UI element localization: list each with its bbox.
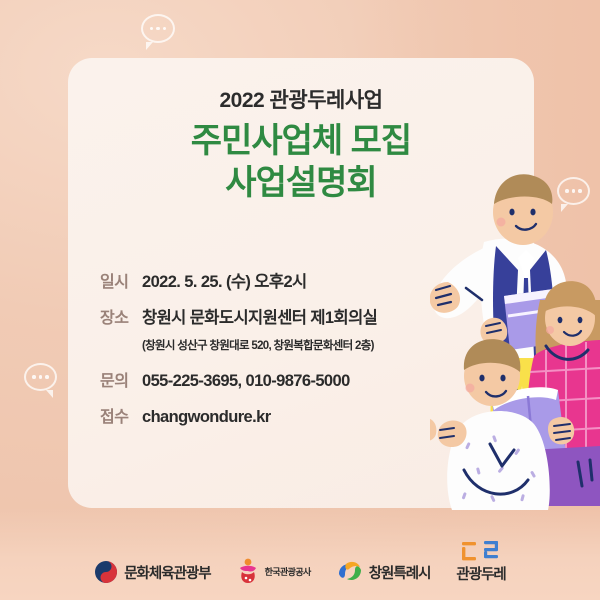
info-row-date: 일시 2022. 5. 25. (수) 오후2시 <box>100 268 440 292</box>
info-value-address-note: (창원시 성산구 창원대로 520, 창원복합문화센터 2층) <box>142 340 374 352</box>
logo-mcst: 문화체육관광부 <box>94 560 210 584</box>
taegeuk-icon <box>94 560 118 584</box>
info-label-date: 일시 <box>100 268 142 292</box>
people-illustration <box>430 150 600 520</box>
changwon-swirl-icon <box>337 560 363 584</box>
footer-logo-strip: 문화체육관광부 한국관광공사 창원특례시 <box>0 540 600 584</box>
info-row-venue: 장소 창원시 문화도시지원센터 제1회의실 <box>100 304 440 328</box>
info-value-registration: changwondure.kr <box>142 408 271 427</box>
info-row-registration: 접수 changwondure.kr <box>100 403 440 427</box>
logo-changwon: 창원특례시 <box>337 560 431 584</box>
poster-root: 2022 관광두레사업 주민사업체 모집 사업설명회 일시 2022. 5. 2… <box>0 0 600 600</box>
info-row-address-note: (창원시 성산구 창원대로 520, 창원복합문화센터 2층) <box>142 336 440 354</box>
logo-kto: 한국관광공사 <box>237 558 311 584</box>
info-value-date: 2022. 5. 25. (수) 오후2시 <box>142 268 307 292</box>
info-value-venue: 창원시 문화도시지원센터 제1회의실 <box>142 304 377 328</box>
info-row-contact: 문의 055-225-3695, 010-9876-5000 <box>100 367 440 391</box>
logo-changwon-label: 창원특례시 <box>369 562 431 583</box>
info-value-contact: 055-225-3695, 010-9876-5000 <box>142 372 350 391</box>
event-info-list: 일시 2022. 5. 25. (수) 오후2시 장소 창원시 문화도시지원센터… <box>100 268 440 439</box>
logo-dure-label: 관광두레 <box>456 563 505 584</box>
logo-kto-label: 한국관광공사 <box>265 565 311 578</box>
info-label-contact: 문의 <box>100 367 142 391</box>
kto-figure-icon <box>237 558 259 584</box>
poster-eyebrow: 2022 관광두레사업 <box>68 88 534 114</box>
dure-wordmark-icon <box>458 540 504 562</box>
info-label-registration: 접수 <box>100 403 142 427</box>
logo-dure: 관광두레 <box>456 540 505 584</box>
info-label-venue: 장소 <box>100 304 142 328</box>
logo-mcst-label: 문화체육관광부 <box>124 562 210 583</box>
